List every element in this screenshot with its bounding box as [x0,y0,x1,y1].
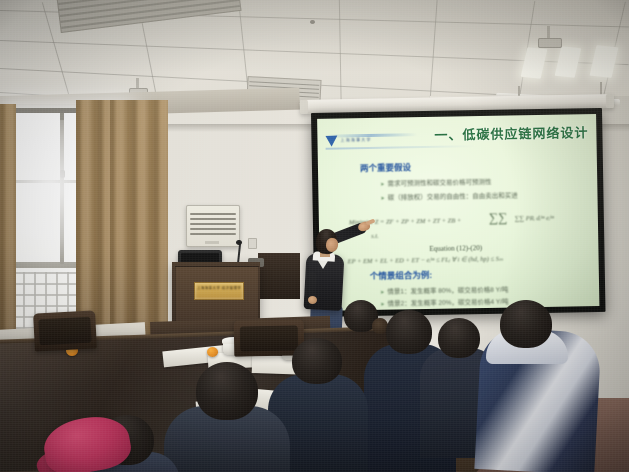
slide-equation-sigma-term: ∑∑ PRᵢ dᵢᵏⁿ eᵢᵏⁿ [515,215,554,223]
lectern-nameplate: 上海海事大学 经济管理学院 [194,282,244,300]
audience-member-4-head [386,310,432,354]
slide-heading-assumptions: 两个重要假设 [360,161,411,174]
logo-mark-icon [325,136,337,147]
projection-screen: 上海海事大学 一、低碳供应链网络设计 两个重要假设 需求可预测性和碳交易价格可预… [311,108,606,317]
conference-chair-pad [240,325,298,351]
audience-member-2-head [196,362,258,420]
screen-surface: 上海海事大学 一、低碳供应链网络设计 两个重要假设 需求可预测性和碳交易价格可预… [317,114,599,311]
screen-case-cap [606,94,614,108]
presentation-slide: 上海海事大学 一、低碳供应链网络设计 两个重要假设 需求可预测性和碳交易价格可预… [317,114,599,311]
curtain-left [0,104,16,354]
slide-equation-label: Equation (12)-(20) [429,244,482,253]
nameplate-text: 上海海事大学 经济管理学院 [197,285,241,291]
audience-member-3-head [292,338,342,384]
screen-case-cap [300,100,308,114]
conference-chair-pad [38,317,91,346]
orange-fruit [207,347,218,357]
curtain-right [110,100,168,358]
slide-equation-constraint: EP + EM + EL + ED + ET − eᵢᵏⁿ ≤ FLⱼ ∀ i … [348,255,504,266]
summation-symbol: ∑∑ [489,210,508,226]
slide-bullet-2: 碳（排放权）交易的自由性：自由卖出和买进 [380,189,517,201]
slide-equation-subject-to: s.t. [371,233,379,240]
audience-member-5-head [438,318,480,358]
presenter-hand-lower [308,296,317,304]
conference-room-photo: 上海海事大学 一、低碳供应链网络设计 两个重要假设 需求可预测性和碳交易价格可预… [0,0,629,472]
audience-member-7-head [500,300,552,348]
logo-text: 上海海事大学 [340,137,371,144]
slide-bullet-scenario-1: 情景1：发生概率 80%，碳交易价格8 Y/吨 [380,284,508,296]
podium-side-cabinet [258,253,300,299]
logo-underline [326,145,476,150]
slide-heading-scenarios: 个情景组合为例: [370,269,433,282]
slide-title: 一、低碳供应链网络设计 [434,122,588,144]
wall-air-conditioner[interactable] [186,205,240,247]
microphone-icon[interactable] [236,240,242,245]
university-logo: 上海海事大学 [325,133,417,149]
wall-outlet-icon [248,238,257,249]
slide-bullet-scenario-2: 情景2：发生概率 20%，碳交易价格4 Y/吨 [380,296,508,308]
slide-bullet-1: 需求可预测性和碳交易价格可预测性 [380,176,491,188]
